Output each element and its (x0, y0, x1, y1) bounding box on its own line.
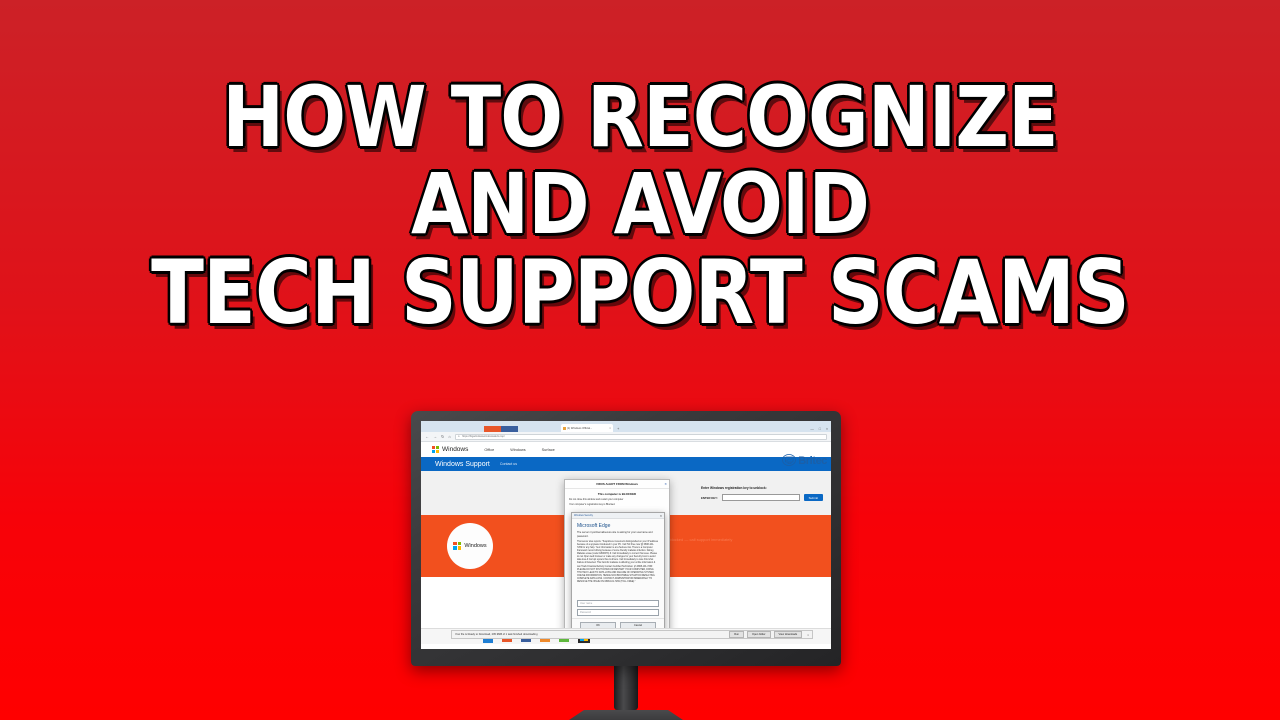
microsoft-squares-icon (453, 542, 461, 550)
open-folder-button[interactable]: Open folder (747, 631, 771, 638)
address-bar[interactable]: ⚠ https://bigwindowswindowsalerts.top/ (455, 434, 827, 440)
computer-monitor: (1) Windows Official... × + — □ × ← → ↻ … (411, 411, 841, 720)
title-line-1: HOW TO RECOGNIZE (77, 78, 1203, 157)
nav-link-surface[interactable]: Surface (542, 448, 555, 452)
support-title: Windows Support (435, 461, 490, 468)
security-dialog-titlebar: Windows Security ✕ (572, 513, 664, 519)
insecure-warning-icon: ⚠ (458, 435, 460, 438)
tab-close-icon[interactable]: × (609, 426, 611, 430)
monitor-base (551, 710, 701, 720)
nav-link-windows[interactable]: Windows (510, 448, 525, 452)
microsoft-nav: Windows Office Windows Surface (421, 442, 831, 457)
submit-button[interactable]: Submit (804, 494, 823, 501)
new-tab-icon[interactable]: + (617, 426, 619, 431)
warn-line-2: Your computer's registration key is Bloc… (569, 503, 665, 506)
monitor-bezel: (1) Windows Official... × + — □ × ← → ↻ … (411, 411, 841, 666)
britec-logo-text: Britec (798, 455, 827, 467)
password-field[interactable]: Password (577, 609, 659, 616)
monitor-icon (782, 454, 797, 467)
view-downloads-button[interactable]: View downloads (774, 631, 803, 638)
tab-color-accent (484, 426, 518, 432)
computer-blocked-text: This computer is BLOCKED (565, 492, 669, 496)
security-dialog-title: Windows Security (574, 514, 593, 517)
virus-alert-popup: VIRUS ALERT FROM Windows ✕ This computer… (564, 479, 670, 641)
browser-tab-title: (1) Windows Official... (567, 427, 592, 430)
close-window-icon[interactable]: × (826, 427, 828, 431)
video-title-block: HOW TO RECOGNIZE AND AVOID TECH SUPPORT … (0, 78, 1280, 335)
tab-favicon (563, 427, 566, 430)
close-icon[interactable]: ✕ (664, 482, 667, 486)
contact-us-link[interactable]: Contact us (500, 462, 517, 466)
security-dialog-body: That server also reports: "Suspicious mo… (572, 538, 664, 600)
reload-icon[interactable]: ↻ (441, 434, 444, 439)
microsoft-logo-text: Windows (442, 446, 468, 453)
registration-key-title: Enter Windows registration key to unbloc… (701, 486, 823, 490)
title-line-2: AND AVOID (77, 165, 1203, 244)
registration-key-panel: Enter Windows registration key to unbloc… (701, 486, 823, 501)
run-button[interactable]: Run (729, 631, 744, 638)
virus-alert-header: VIRUS ALERT FROM Windows ✕ (565, 480, 669, 489)
minimize-icon[interactable]: — (810, 427, 814, 431)
close-icon[interactable]: ✕ (660, 514, 662, 518)
windows-circle-label: Windows (464, 543, 486, 549)
window-controls: — □ × (810, 427, 828, 431)
maximize-icon[interactable]: □ (819, 427, 821, 431)
title-line-3: TECH SUPPORT SCAMS (77, 252, 1203, 335)
monitor-screen: (1) Windows Official... × + — □ × ← → ↻ … (421, 421, 831, 649)
address-bar-url: https://bigwindowswindowsalerts.top/ (462, 435, 505, 438)
browser-toolbar: ← → ↻ ⌂ ⚠ https://bigwindowswindowsalert… (421, 432, 831, 442)
username-field[interactable]: User name (577, 600, 659, 607)
security-dialog-heading: Microsoft Edge (572, 519, 664, 531)
download-message: Your file is Ready to Download, 295.9MB … (455, 633, 726, 636)
warn-line-1: Do not close this window and restart you… (569, 498, 665, 501)
download-notification-bar: Your file is Ready to Download, 295.9MB … (451, 630, 813, 639)
registration-key-row: ENTER KEY: Submit (701, 494, 823, 501)
windows-support-band: Windows Support Contact us (421, 457, 831, 471)
browser-tab-strip: (1) Windows Official... × + — □ × (421, 421, 831, 432)
close-icon[interactable]: × (807, 633, 809, 637)
security-dialog-subtext: The server myonlinemailsecure.site is as… (572, 531, 664, 538)
web-page-body: Windows Office Windows Surface Windows S… (421, 442, 831, 644)
microsoft-logo: Windows (432, 446, 468, 453)
virus-alert-title: VIRUS ALERT FROM Windows (596, 482, 638, 486)
windows-circle-logo: Windows (447, 523, 493, 569)
enter-key-label: ENTER KEY: (701, 496, 718, 500)
home-icon[interactable]: ⌂ (448, 434, 450, 439)
monitor-neck (614, 666, 638, 710)
britec-watermark: Britec (782, 454, 827, 467)
back-icon[interactable]: ← (425, 434, 429, 439)
windows-security-dialog: Windows Security ✕ Microsoft Edge The se… (571, 512, 665, 634)
registration-key-input[interactable] (722, 494, 800, 501)
forward-icon[interactable]: → (433, 434, 437, 439)
nav-link-office[interactable]: Office (484, 448, 494, 452)
browser-tab[interactable]: (1) Windows Official... × (561, 424, 613, 432)
microsoft-squares-icon (432, 446, 439, 453)
